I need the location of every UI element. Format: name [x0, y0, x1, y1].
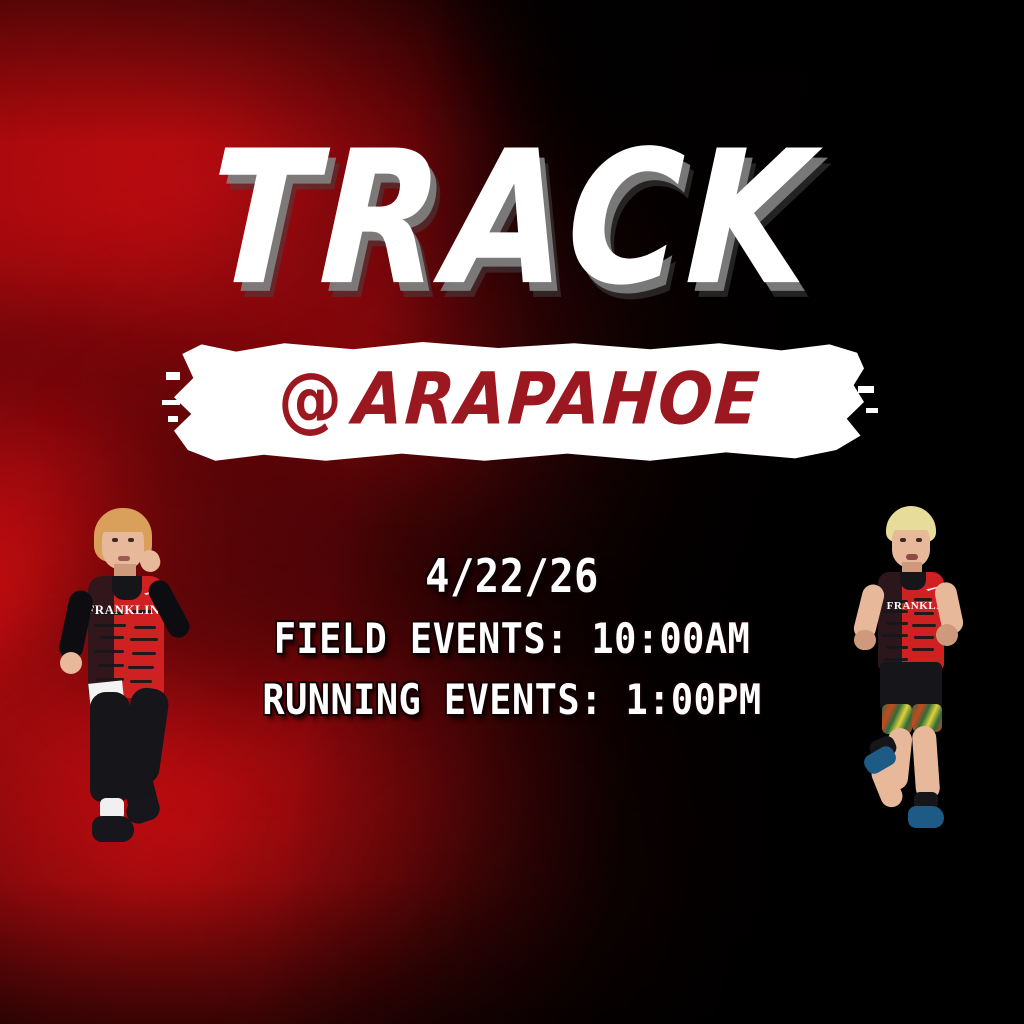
- brush-speck: [866, 408, 878, 413]
- hand-left: [60, 652, 82, 674]
- fist-right: [936, 624, 958, 646]
- athlete-photo-right: FRANKLIN: [852, 506, 984, 846]
- eye: [128, 538, 134, 542]
- athlete-photo-left: FRANKLIN 31: [28, 506, 218, 852]
- hair-fringe: [888, 514, 934, 530]
- mouth: [118, 556, 130, 561]
- eye: [112, 538, 118, 542]
- mouth: [906, 554, 918, 560]
- sport-title-container: TRACK: [0, 148, 1024, 291]
- venue-text-row: @ ARAPAHOE: [169, 335, 868, 469]
- shoe: [908, 806, 944, 828]
- jersey-collar: [112, 576, 142, 600]
- shoe: [92, 816, 134, 842]
- track-meet-poster: TRACK @ ARAPAHOE 4/22/26 FIELD EVENTS: 1…: [0, 0, 1024, 1024]
- leg-right: [911, 725, 940, 800]
- eye: [900, 538, 906, 542]
- sport-title: TRACK: [206, 135, 819, 303]
- hand-left: [854, 630, 876, 650]
- jersey-team-name: FRANKLIN: [28, 602, 218, 618]
- venue-banner: @ ARAPAHOE: [174, 342, 864, 462]
- jersey-black-panel: [878, 572, 902, 670]
- at-symbol: @: [278, 358, 345, 441]
- eye: [916, 538, 922, 542]
- hair-fringe: [100, 514, 146, 532]
- jersey-collar: [900, 572, 926, 590]
- venue-name: ARAPAHOE: [351, 358, 763, 441]
